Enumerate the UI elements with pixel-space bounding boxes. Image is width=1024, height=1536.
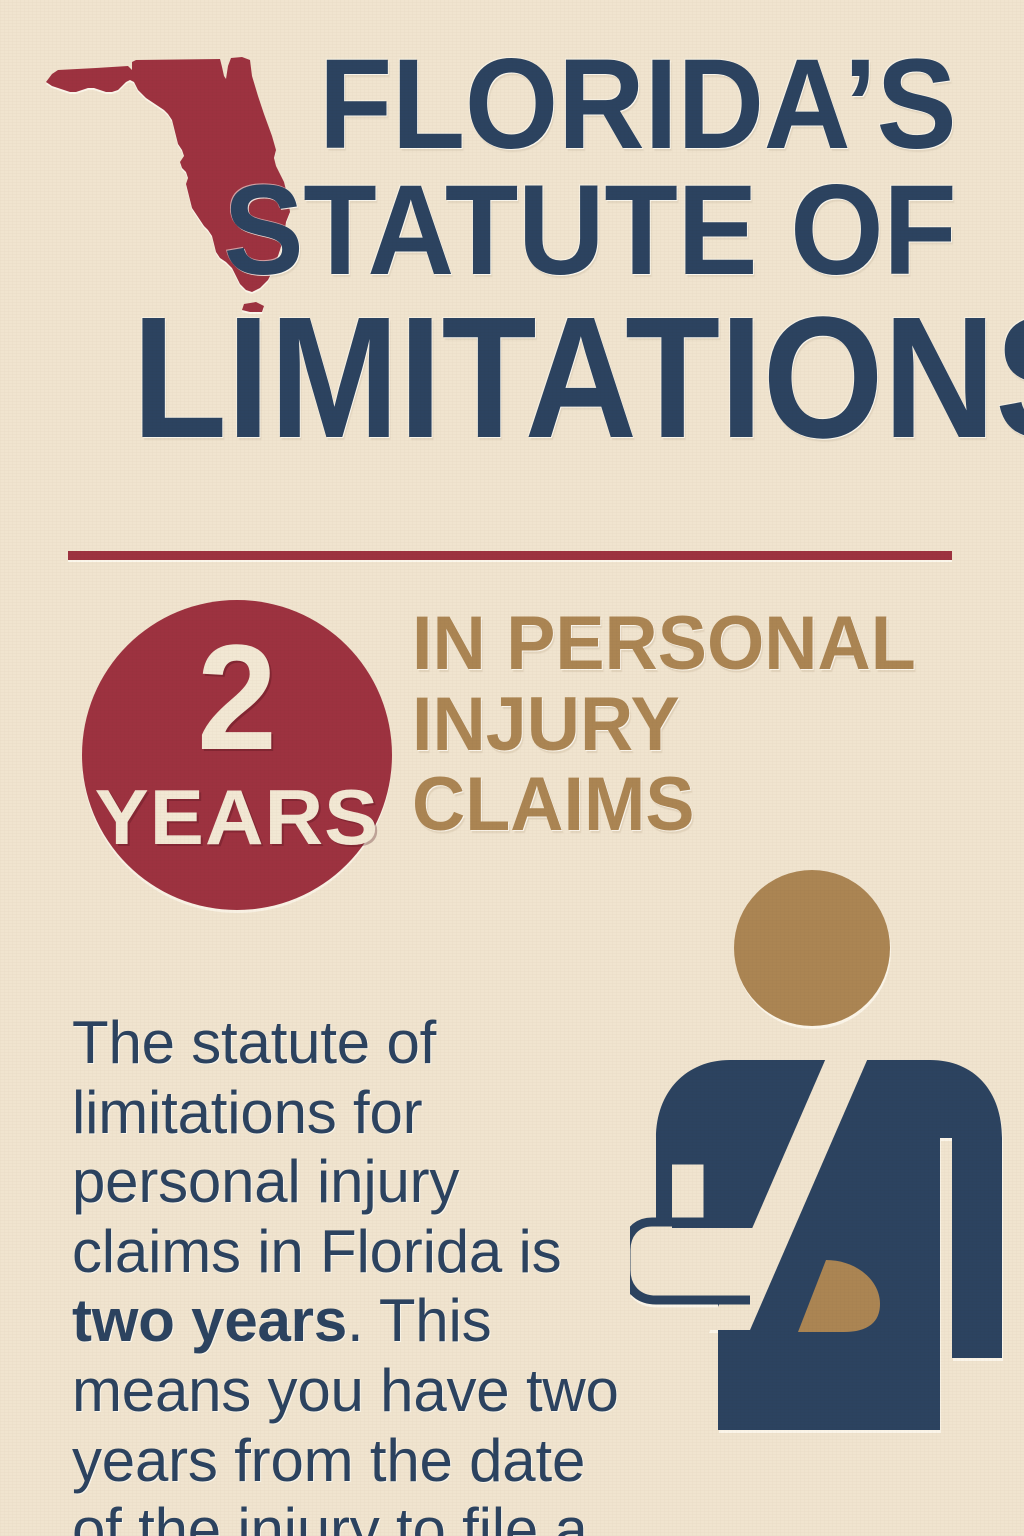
subheading-line-1: IN PERSONAL <box>412 604 955 685</box>
body-paragraph: The statute of limitations for personal … <box>72 1008 632 1536</box>
title-line-1: FLORIDA’S <box>95 44 960 167</box>
title-line-2: STATUTE OF <box>95 167 960 295</box>
subheading: IN PERSONAL INJURY CLAIMS <box>412 604 972 846</box>
divider-rule <box>68 551 952 560</box>
title-line-3: LIMITATIONS <box>132 289 960 465</box>
subheading-line-3: CLAIMS <box>412 765 955 846</box>
person-head <box>734 870 890 1026</box>
page-title: FLORIDA’S STATUTE OF LIMITATIONS <box>40 44 960 465</box>
badge-number: 2 <box>88 622 386 772</box>
injured-person-icon <box>630 860 1020 1480</box>
subheading-line-2: INJURY <box>412 685 955 766</box>
duration-badge: 2 <box>82 600 392 910</box>
badge-unit-label: YEARS <box>76 778 398 856</box>
body-text-emphasis: two years <box>72 1287 347 1354</box>
body-text-intro: The statute of limitations for personal … <box>72 1009 561 1285</box>
infographic-poster: FLORIDA’S STATUTE OF LIMITATIONS 2 YEARS… <box>0 0 1024 1536</box>
